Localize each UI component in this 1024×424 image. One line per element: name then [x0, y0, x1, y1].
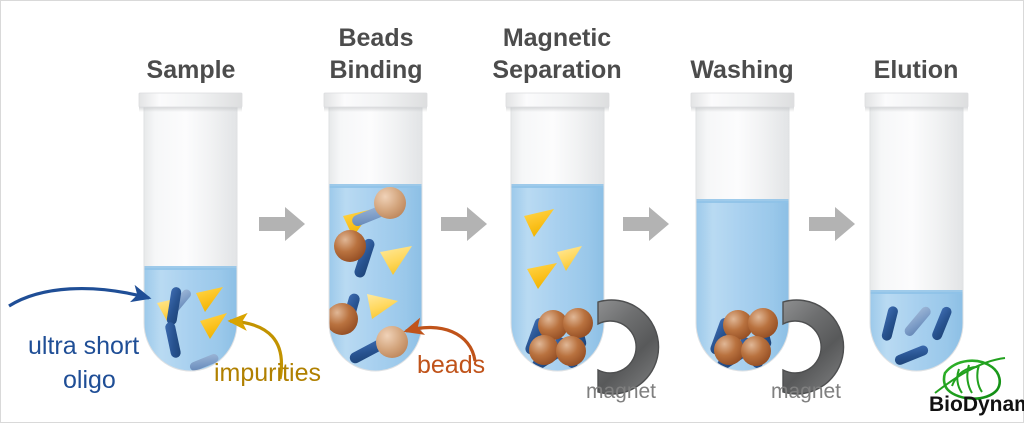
liquid-surface [870, 290, 963, 294]
bead [563, 308, 593, 338]
step-sample: Sample [139, 56, 242, 372]
bead [376, 326, 408, 358]
magnet-label: magnet [586, 380, 656, 403]
magnet-label: magnet [771, 380, 841, 403]
callout-leader-line [9, 289, 149, 306]
liquid-surface [696, 199, 789, 203]
step-title-magnetic-separation-line1: Magnetic [503, 24, 611, 52]
tube-liquid-group [870, 290, 963, 371]
callout-label-beads: beads [417, 351, 485, 379]
arrow-right-icon [441, 207, 487, 241]
bead [556, 336, 586, 366]
liquid-fill [144, 268, 237, 371]
tube-liquid-group [326, 184, 422, 371]
arrow-right-icon [623, 207, 669, 241]
callout-label-impurities: impurities [214, 359, 321, 387]
bead [741, 336, 771, 366]
bead [748, 308, 778, 338]
tube-cap [506, 93, 609, 107]
logo-biodynami[interactable]: BioDynami [929, 358, 1024, 416]
tube-sample [139, 93, 242, 372]
tube-liquid-group [144, 266, 237, 372]
arrow-right-icon [259, 207, 305, 241]
tube-elution [865, 93, 968, 371]
tube-cap [865, 93, 968, 107]
bead [334, 230, 366, 262]
arrow-right-icon [809, 207, 855, 241]
step-title-washing: Washing [690, 56, 793, 84]
step-beads-binding: Beads Binding [324, 24, 427, 371]
step-title-beads-binding-line2: Binding [329, 56, 422, 84]
liquid-surface [144, 266, 237, 270]
liquid-surface [329, 184, 422, 188]
flow-arrow-3 [623, 207, 669, 241]
tube-cap [139, 93, 242, 107]
bead [529, 335, 559, 365]
flow-arrow-4 [809, 207, 855, 241]
helix-strand [977, 365, 982, 392]
step-elution: Elution [865, 56, 968, 371]
figure-canvas: Sample [0, 0, 1024, 423]
workflow-diagram: Sample [1, 1, 1024, 424]
step-magnetic-separation: Magnetic Separation [492, 24, 658, 403]
callout-label-oligo-line2: oligo [63, 366, 116, 394]
tube-cap [691, 93, 794, 107]
step-title-beads-binding-line1: Beads [338, 24, 413, 52]
logo-text: BioDynami [929, 393, 1024, 416]
tube-washing [691, 93, 794, 372]
bead [714, 335, 744, 365]
leaf-rib [952, 367, 977, 386]
flow-arrow-1 [259, 207, 305, 241]
bead [326, 303, 358, 335]
step-title-magnetic-separation-line2: Separation [492, 56, 621, 84]
tube-cap [324, 93, 427, 107]
step-title-elution: Elution [874, 56, 959, 84]
bead [374, 187, 406, 219]
step-title-sample: Sample [147, 56, 236, 84]
callout-label-oligo-line1: ultra short [28, 332, 139, 360]
callout-ultra-short-oligo: ultra short oligo [9, 289, 149, 394]
tube-liquid-group [511, 184, 604, 372]
liquid-surface [511, 184, 604, 188]
tube-magnetic-separation [506, 93, 609, 372]
flow-arrow-2 [441, 207, 487, 241]
tube-liquid-group [696, 199, 789, 372]
